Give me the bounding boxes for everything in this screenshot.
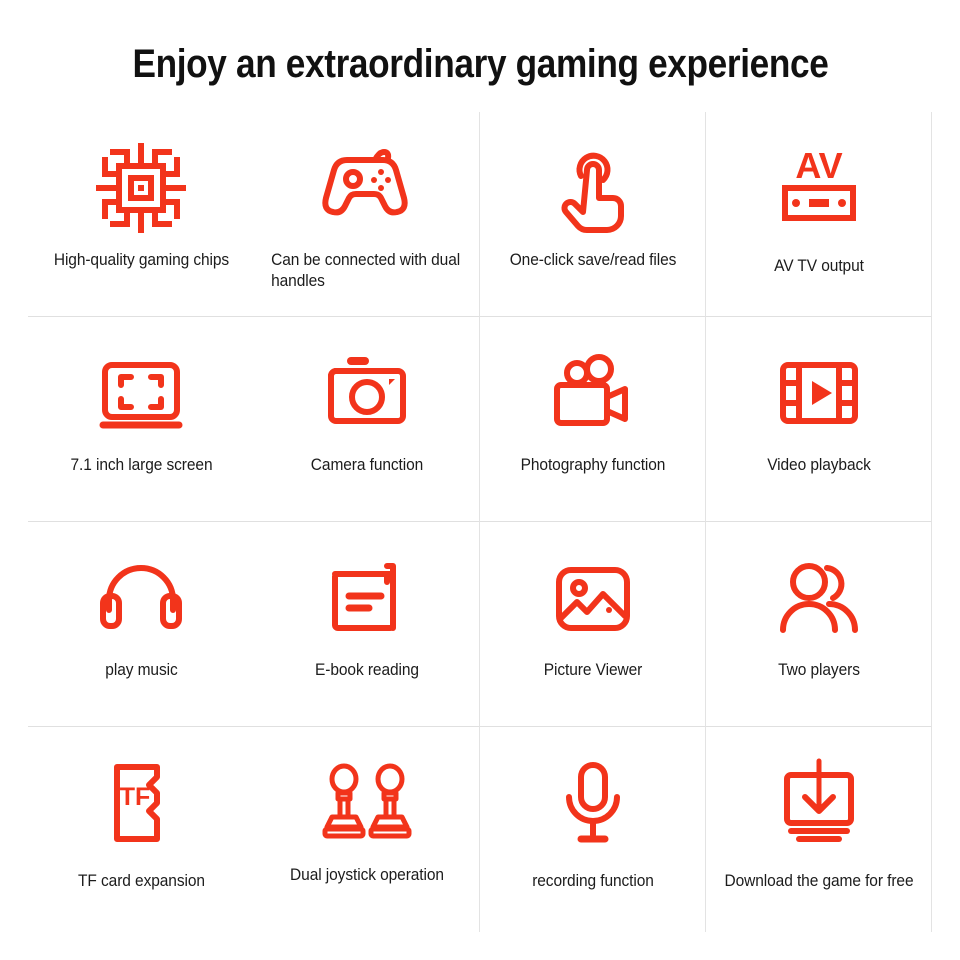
feature-cell-picture-viewer[interactable]: Picture Viewer (480, 522, 706, 727)
feature-cell-dual-joystick[interactable]: Dual joystick operation (254, 727, 480, 932)
feature-label: Picture Viewer (491, 660, 694, 681)
monitor-download-icon (767, 753, 871, 853)
two-people-icon (767, 548, 871, 648)
page-title-wrapper: Enjoy an extraordinary gaming experience (0, 42, 960, 87)
feature-label: High-quality gaming chips (39, 250, 243, 271)
feature-label: 7.1 inch large screen (39, 455, 243, 476)
dual-joystick-icon (315, 753, 419, 853)
feature-label: play music (39, 660, 243, 681)
feature-cell-av-tv-output[interactable]: AV AV TV output (706, 112, 932, 317)
feature-cell-large-screen[interactable]: 7.1 inch large screen (28, 317, 254, 522)
feature-label: Can be connected with dual handles (259, 250, 473, 293)
feature-label: Video playback (717, 455, 920, 476)
tap-hand-icon (541, 138, 645, 238)
av-icon-text: AV (795, 145, 842, 186)
feature-cell-ebook-reading[interactable]: E-book reading (254, 522, 480, 727)
video-camera-icon (541, 343, 645, 443)
features-grid: High-quality gaming chips Can be connect… (28, 112, 932, 932)
feature-label: E-book reading (265, 660, 468, 681)
feature-cell-play-music[interactable]: play music (28, 522, 254, 727)
feature-cell-photography[interactable]: Photography function (480, 317, 706, 522)
tf-icon-text: TF (120, 783, 151, 811)
feature-label: Dual joystick operation (265, 865, 468, 886)
feature-label: Photography function (491, 455, 694, 476)
feature-grid-page: Enjoy an extraordinary gaming experience (0, 0, 960, 960)
film-play-icon (767, 343, 871, 443)
feature-cell-camera[interactable]: Camera function (254, 317, 480, 522)
av-output-icon: AV (767, 138, 871, 238)
feature-cell-dual-handles[interactable]: Can be connected with dual handles (254, 112, 480, 317)
feature-cell-one-click-files[interactable]: One-click save/read files (480, 112, 706, 317)
fullscreen-monitor-icon (89, 343, 193, 443)
gamepad-icon (315, 138, 419, 238)
book-icon (315, 548, 419, 648)
feature-cell-gaming-chips[interactable]: High-quality gaming chips (28, 112, 254, 317)
page-title: Enjoy an extraordinary gaming experience (132, 42, 828, 87)
feature-label: recording function (491, 871, 694, 892)
feature-cell-tf-card[interactable]: TF TF card expansion (28, 727, 254, 932)
camera-icon (315, 343, 419, 443)
feature-label: TF card expansion (39, 871, 243, 892)
feature-label: One-click save/read files (491, 250, 694, 271)
feature-cell-video-playback[interactable]: Video playback (706, 317, 932, 522)
microphone-icon (541, 753, 645, 853)
feature-label: Camera function (265, 455, 468, 476)
headphones-icon (89, 548, 193, 648)
image-icon (541, 548, 645, 648)
feature-cell-two-players[interactable]: Two players (706, 522, 932, 727)
feature-label: Download the game for free (717, 871, 920, 892)
feature-cell-recording[interactable]: recording function (480, 727, 706, 932)
cpu-chip-icon (89, 138, 193, 238)
feature-cell-free-download[interactable]: Download the game for free (706, 727, 932, 932)
feature-label: Two players (717, 660, 920, 681)
feature-label: AV TV output (717, 256, 920, 277)
memory-card-icon: TF (89, 753, 193, 853)
